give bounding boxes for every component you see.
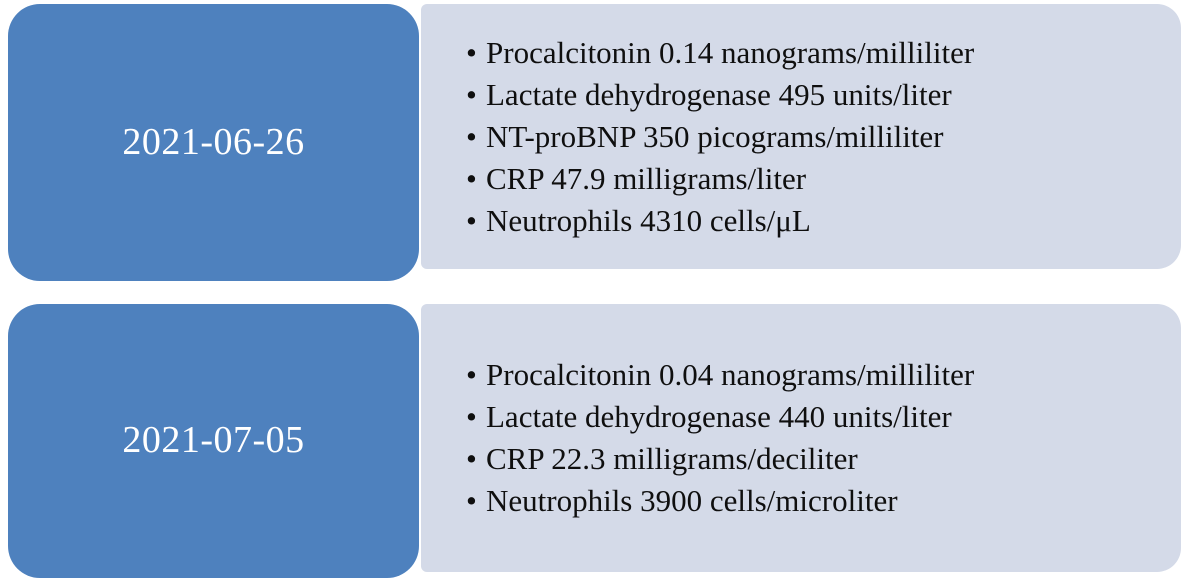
result-text: Lactate dehydrogenase 440 units/liter bbox=[486, 399, 952, 434]
result-text: Neutrophils 3900 cells/microliter bbox=[486, 483, 898, 518]
list-item: • Lactate dehydrogenase 495 units/liter bbox=[466, 74, 1181, 116]
list-item: • CRP 47.9 milligrams/liter bbox=[466, 158, 1181, 200]
bullet-icon: • bbox=[466, 396, 477, 438]
list-item: • Lactate dehydrogenase 440 units/liter bbox=[466, 396, 1181, 438]
timeline-row: 2021-07-05 • Procalcitonin 0.04 nanogram… bbox=[0, 304, 1181, 578]
result-text: NT-proBNP 350 picograms/milliliter bbox=[486, 119, 944, 154]
timeline-row: 2021-06-26 • Procalcitonin 0.14 nanogram… bbox=[0, 4, 1181, 281]
lab-results-timeline: 2021-06-26 • Procalcitonin 0.14 nanogram… bbox=[0, 0, 1181, 582]
results-list: • Procalcitonin 0.04 nanograms/millilite… bbox=[421, 354, 1181, 522]
list-item: • CRP 22.3 milligrams/deciliter bbox=[466, 438, 1181, 480]
bullet-icon: • bbox=[466, 200, 477, 242]
date-chip[interactable]: 2021-07-05 bbox=[8, 304, 419, 578]
results-panel: • Procalcitonin 0.04 nanograms/millilite… bbox=[421, 304, 1181, 572]
date-chip[interactable]: 2021-06-26 bbox=[8, 4, 419, 281]
list-item: • Neutrophils 4310 cells/μL bbox=[466, 200, 1181, 242]
list-item: • Procalcitonin 0.04 nanograms/millilite… bbox=[466, 354, 1181, 396]
result-text: Procalcitonin 0.14 nanograms/milliliter bbox=[486, 35, 974, 70]
date-label: 2021-06-26 bbox=[122, 122, 304, 164]
result-text: Procalcitonin 0.04 nanograms/milliliter bbox=[486, 357, 974, 392]
bullet-icon: • bbox=[466, 116, 477, 158]
result-text: Neutrophils 4310 cells/μL bbox=[486, 203, 811, 238]
date-label: 2021-07-05 bbox=[122, 420, 304, 462]
list-item: • Neutrophils 3900 cells/microliter bbox=[466, 480, 1181, 522]
bullet-icon: • bbox=[466, 354, 477, 396]
result-text: CRP 22.3 milligrams/deciliter bbox=[486, 441, 858, 476]
bullet-icon: • bbox=[466, 74, 477, 116]
result-text: Lactate dehydrogenase 495 units/liter bbox=[486, 77, 952, 112]
list-item: • Procalcitonin 0.14 nanograms/millilite… bbox=[466, 32, 1181, 74]
results-list: • Procalcitonin 0.14 nanograms/millilite… bbox=[421, 32, 1181, 242]
results-panel: • Procalcitonin 0.14 nanograms/millilite… bbox=[421, 4, 1181, 269]
list-item: • NT-proBNP 350 picograms/milliliter bbox=[466, 116, 1181, 158]
bullet-icon: • bbox=[466, 438, 477, 480]
bullet-icon: • bbox=[466, 480, 477, 522]
bullet-icon: • bbox=[466, 32, 477, 74]
result-text: CRP 47.9 milligrams/liter bbox=[486, 161, 806, 196]
bullet-icon: • bbox=[466, 158, 477, 200]
